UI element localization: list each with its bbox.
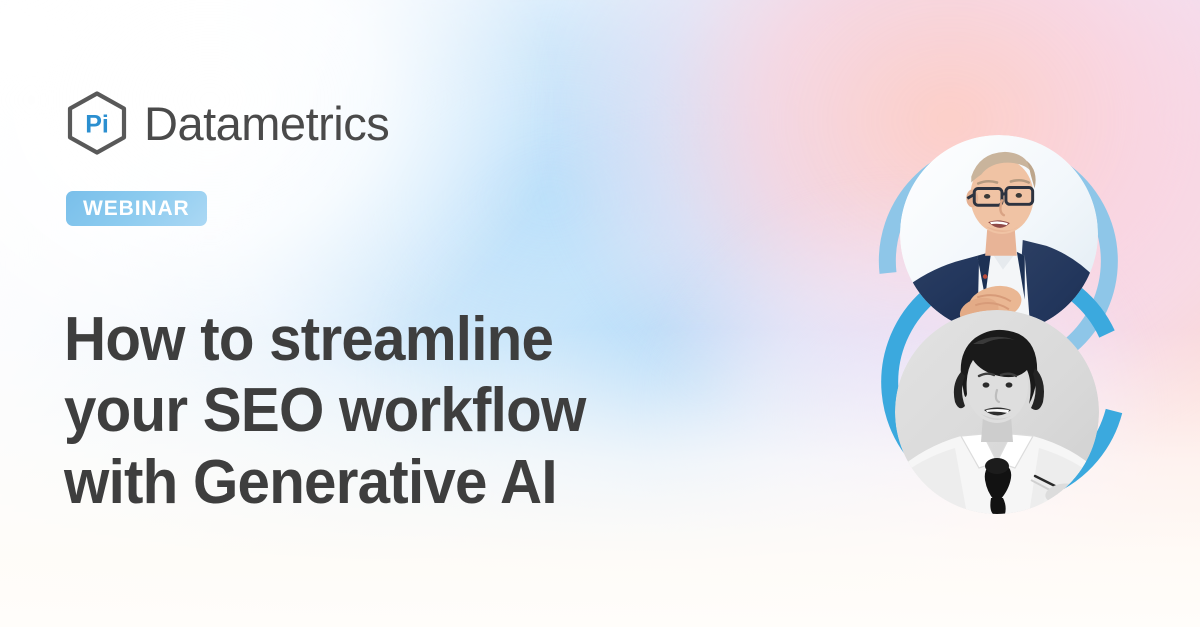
page-title: How to streamline your SEO workflow with…	[64, 304, 764, 520]
speaker-photo-woman-short-hair-bow-blouse	[895, 310, 1099, 514]
hexagon-pi-logo-icon: Pi	[64, 90, 130, 156]
logo-mark-text: Pi	[85, 111, 109, 139]
speaker-photo-man-glasses-navy-blazer	[900, 135, 1098, 333]
brand-name: Datametrics	[144, 100, 389, 147]
speaker-avatars	[878, 118, 1178, 538]
brand-logo[interactable]: Pi Datametrics	[64, 90, 389, 156]
headline-line-1: How to streamline	[64, 304, 722, 376]
avatar	[895, 310, 1099, 514]
headline-line-3: with Generative AI	[64, 447, 722, 519]
status-badge: WEBINAR	[66, 191, 207, 226]
avatar	[900, 135, 1098, 333]
headline-line-2: your SEO workflow	[64, 375, 722, 447]
webinar-promo-banner: Pi Datametrics WEBINAR How to streamline…	[0, 0, 1200, 627]
